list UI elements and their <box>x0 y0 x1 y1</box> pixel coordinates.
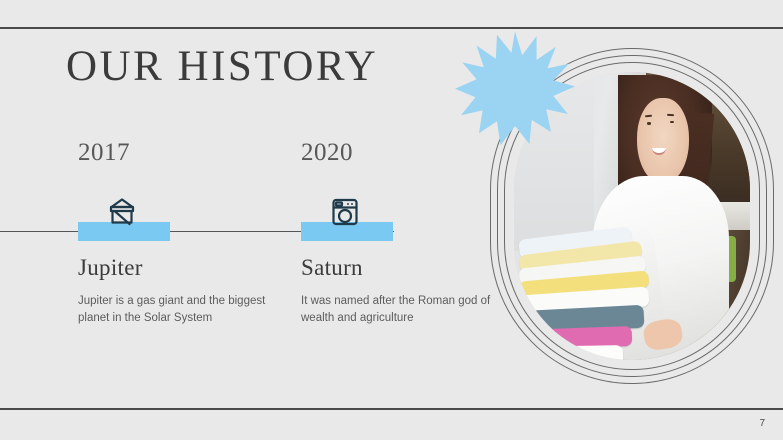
timeline-year-1: 2017 <box>78 139 130 167</box>
page-title: OUR HISTORY <box>66 42 378 91</box>
timeline-heading-2: Saturn <box>301 255 363 281</box>
photo-content <box>514 72 750 360</box>
timeline-year-2: 2020 <box>301 139 353 167</box>
slide-our-history: OUR HISTORY 2017 Jupiter Jupiter is a ga… <box>0 0 783 440</box>
bucket-icon <box>100 190 144 234</box>
timeline-heading-1: Jupiter <box>78 255 143 281</box>
photo-frame <box>490 48 774 384</box>
timeline-body-2: It was named after the Roman god of weal… <box>301 293 501 326</box>
washing-machine-icon <box>323 190 367 234</box>
timeline-body-1: Jupiter is a gas giant and the biggest p… <box>78 293 278 326</box>
photo-laundry-woman <box>514 72 750 360</box>
bottom-divider <box>0 408 783 410</box>
page-number: 7 <box>759 418 765 429</box>
top-divider <box>0 27 783 29</box>
